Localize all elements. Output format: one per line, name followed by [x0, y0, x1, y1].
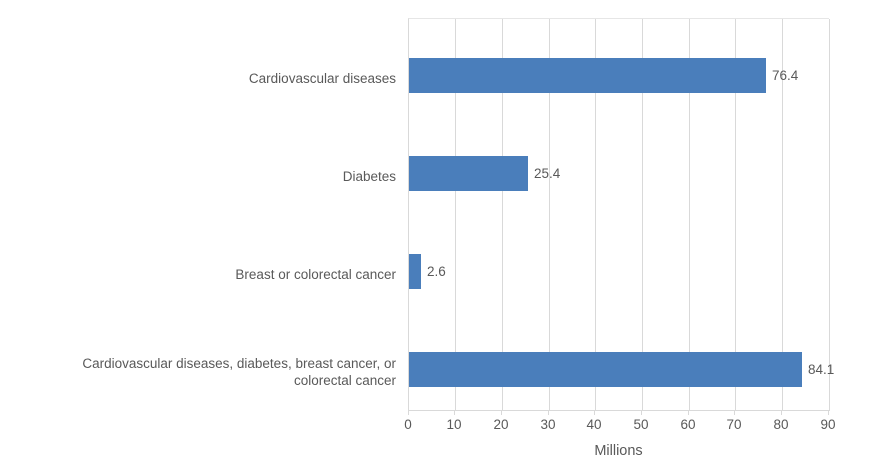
x-tick-label-0: 0: [388, 417, 428, 432]
x-tick-label-30: 30: [528, 417, 568, 432]
x-tick-label-90: 90: [808, 417, 848, 432]
x-tick-label-40: 40: [574, 417, 614, 432]
x-tick-label-60: 60: [668, 417, 708, 432]
x-axis-line: [408, 410, 829, 411]
bar-3[interactable]: [409, 352, 802, 387]
x-tick-60: [688, 410, 689, 415]
x-tick-0: [408, 410, 409, 415]
x-tick-label-20: 20: [481, 417, 521, 432]
category-label-3: Cardiovascular diseases, diabetes, breas…: [0, 355, 396, 389]
x-tick-30: [548, 410, 549, 415]
bar-1[interactable]: [409, 156, 528, 191]
x-tick-label-50: 50: [621, 417, 661, 432]
category-label-1: Diabetes: [0, 168, 396, 185]
bar-value-0: 76.4: [772, 58, 798, 93]
x-axis-title: Millions: [408, 443, 829, 459]
plot-area: 76.4 25.4 2.6 84.1: [408, 18, 829, 411]
bar-0[interactable]: [409, 58, 766, 93]
x-tick-10: [454, 410, 455, 415]
x-tick-label-70: 70: [714, 417, 754, 432]
x-tick-50: [641, 410, 642, 415]
bar-value-2: 2.6: [427, 254, 446, 289]
x-tick-40: [594, 410, 595, 415]
bar-chart: Cardiovascular diseases Diabetes Breast …: [0, 0, 881, 475]
x-tick-80: [781, 410, 782, 415]
category-label-2: Breast or colorectal cancer: [0, 266, 396, 283]
category-axis: Cardiovascular diseases Diabetes Breast …: [0, 18, 404, 410]
x-tick-20: [501, 410, 502, 415]
x-tick-label-10: 10: [434, 417, 474, 432]
x-tick-70: [734, 410, 735, 415]
bar-value-3: 84.1: [808, 352, 834, 387]
bar-value-1: 25.4: [534, 156, 560, 191]
bar-2[interactable]: [409, 254, 421, 289]
x-tick-label-80: 80: [761, 417, 801, 432]
category-label-0: Cardiovascular diseases: [0, 70, 396, 87]
x-tick-90: [828, 410, 829, 415]
